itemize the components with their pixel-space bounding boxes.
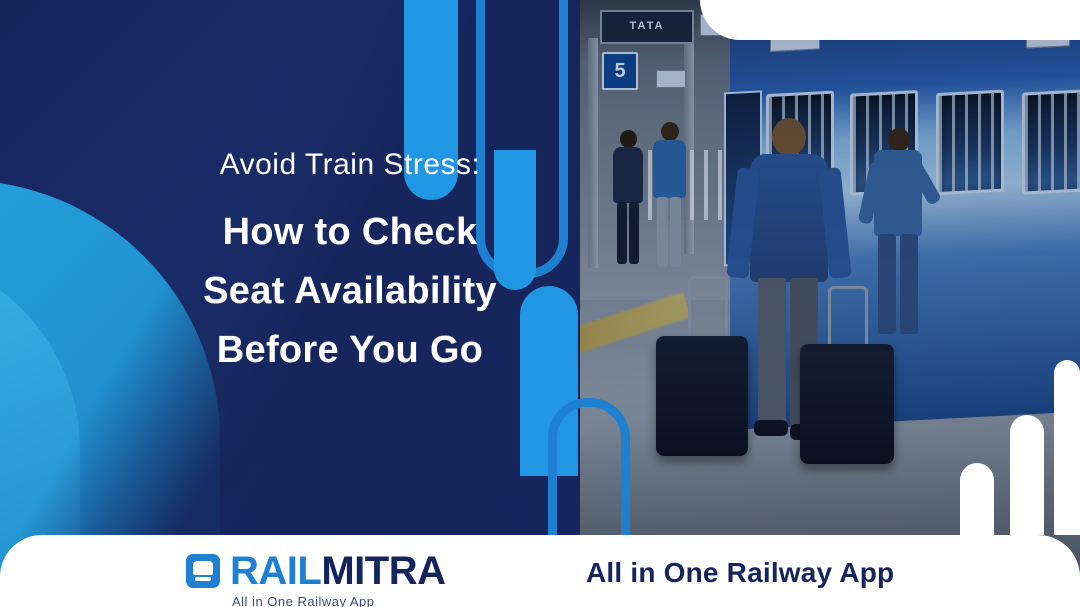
brand-name-first: RAIL [230, 549, 321, 593]
headline-block: Avoid Train Stress: How to Check Seat Av… [150, 148, 550, 380]
headline-line-2: Seat Availability [150, 262, 550, 321]
top-white-curve [700, 0, 1080, 40]
photo-color-tint [560, 0, 1080, 607]
brand-subtitle: All in One Railway App [232, 594, 375, 607]
footer-bar: RAILMITRA All in One Railway App All in … [0, 535, 1080, 607]
brand-wordmark: RAILMITRA [230, 551, 445, 591]
headline-eyebrow: Avoid Train Stress: [150, 148, 550, 181]
promo-banner: TATA 5 [0, 0, 1080, 607]
white-bar-right-2 [1010, 415, 1044, 535]
headline-line-1: How to Check [150, 203, 550, 262]
headline-line-3: Before You Go [150, 321, 550, 380]
platform-photo: TATA 5 [560, 0, 1080, 607]
footer-tagline: All in One Railway App [586, 557, 894, 589]
white-bar-right-3 [960, 463, 994, 535]
train-icon [186, 554, 220, 588]
brand-name-second: MITRA [321, 549, 445, 593]
white-bar-right-1 [1054, 360, 1080, 535]
brand-logo[interactable]: RAILMITRA [186, 551, 445, 591]
